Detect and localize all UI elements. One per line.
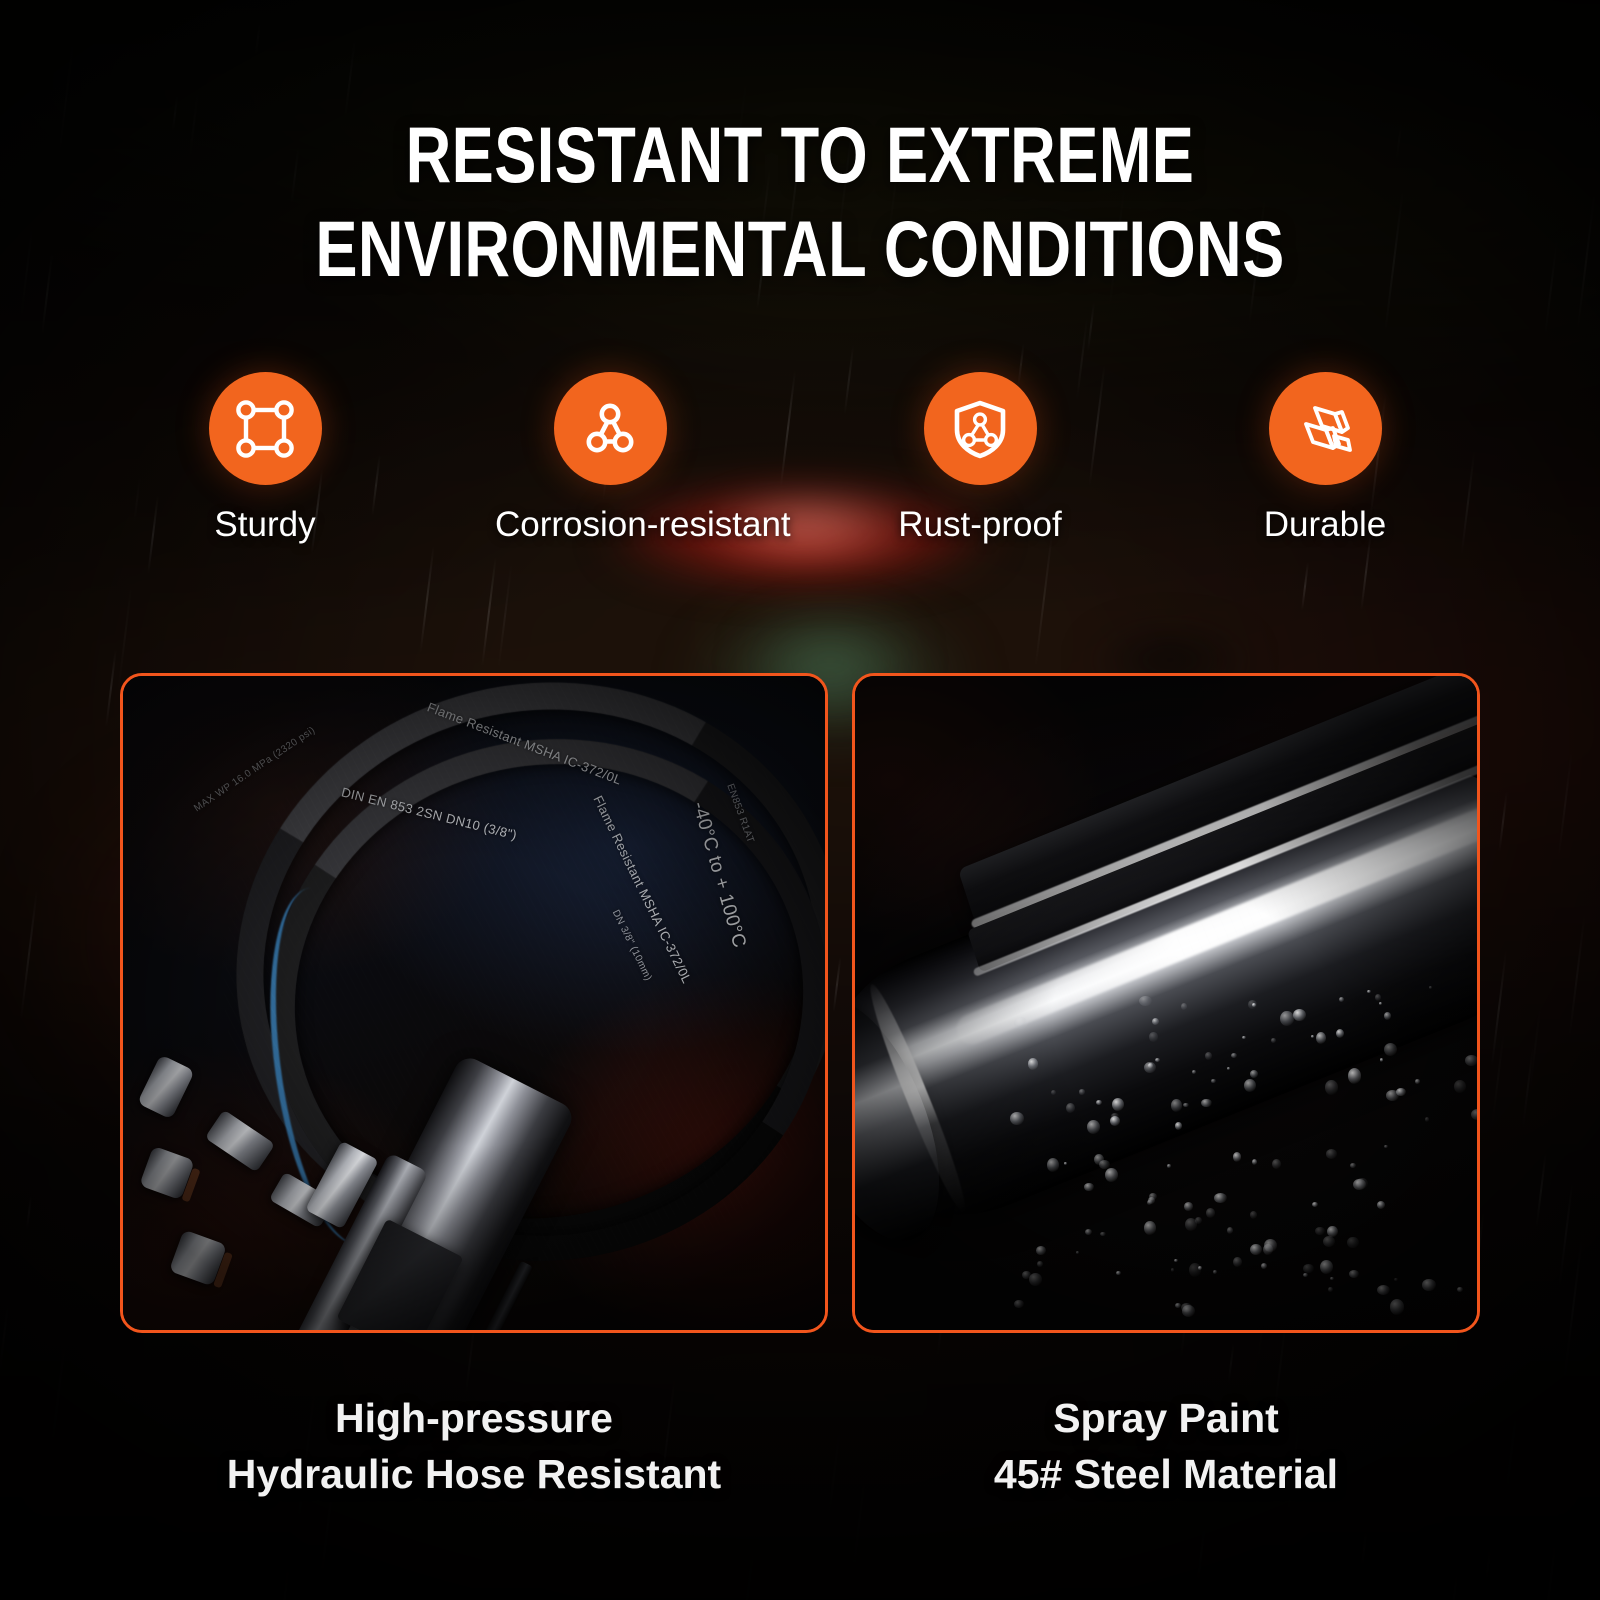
caption-spray-paint: Spray Paint 45# Steel Material [852,1390,1480,1502]
feature-item-corrosion-resistant: Corrosion-resistant [495,372,725,545]
caption-hose-line-1: High-pressure [120,1390,828,1446]
shield-molecule-icon [945,394,1015,464]
hydraulic-hose-panel[interactable]: Flame Resistant MSHA IC-372/0L DIN EN 85… [120,673,828,1333]
spray-paint-panel[interactable] [852,673,1480,1333]
caption-hydraulic-hose: High-pressure Hydraulic Hose Resistant [120,1390,828,1502]
sturdy-frame-icon [231,395,299,463]
metal-ingots-icon [1290,394,1360,464]
page-title: RESISTANT TO EXTREME ENVIRONMENTAL CONDI… [0,108,1600,296]
feature-label-rust-proof: Rust-proof [865,505,1095,545]
feature-label-durable: Durable [1210,505,1440,545]
feature-list: Sturdy Corrosion-resistant [0,372,1600,582]
feature-label-sturdy: Sturdy [150,505,380,545]
steel-photo-vignette [855,676,1477,1330]
feature-item-sturdy: Sturdy [150,372,380,545]
rust-proof-badge [924,372,1037,485]
sturdy-badge [209,372,322,485]
product-panels: Flame Resistant MSHA IC-372/0L DIN EN 85… [120,673,1480,1333]
page-title-line-1: RESISTANT TO EXTREME [160,108,1440,202]
caption-paint-line-1: Spray Paint [852,1390,1480,1446]
hose-photo-vignette [123,676,825,1330]
page-title-line-2: ENVIRONMENTAL CONDITIONS [160,202,1440,296]
molecule-node-icon [576,395,644,463]
durable-badge [1269,372,1382,485]
corrosion-resistant-badge [554,372,667,485]
caption-hose-line-2: Hydraulic Hose Resistant [120,1446,828,1502]
caption-paint-line-2: 45# Steel Material [852,1446,1480,1502]
feature-item-durable: Durable [1210,372,1440,545]
feature-label-corrosion-resistant: Corrosion-resistant [495,505,725,545]
feature-item-rust-proof: Rust-proof [865,372,1095,545]
